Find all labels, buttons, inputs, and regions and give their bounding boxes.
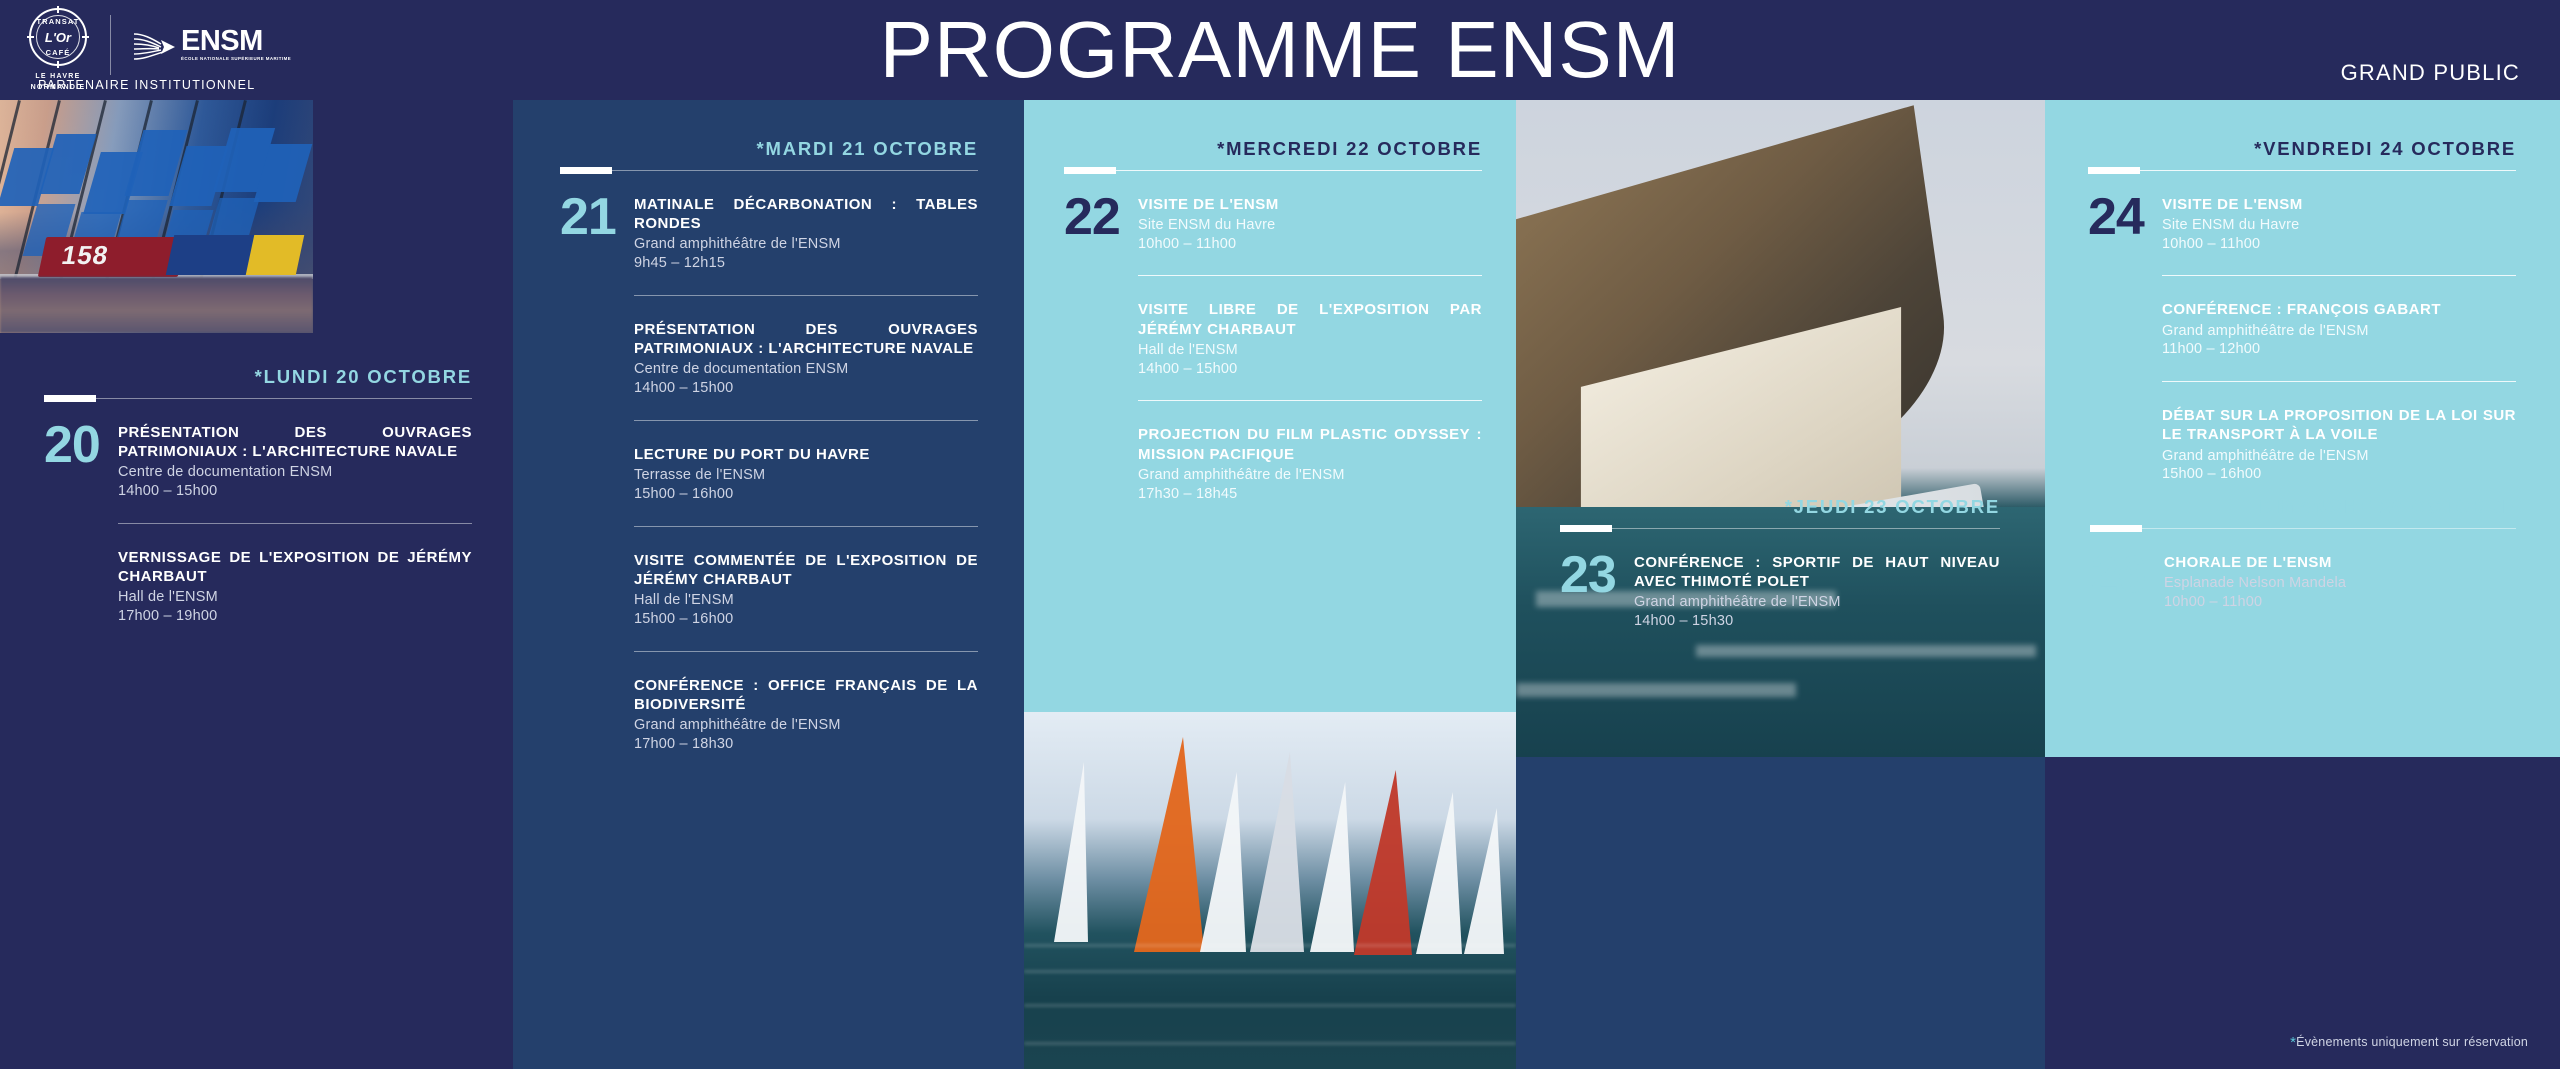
day-rule-lundi-20 <box>44 398 472 399</box>
event-place: Grand amphithéâtre de l'ENSM <box>1634 593 2000 612</box>
photo-imoca-under-sail <box>1516 100 2045 757</box>
event-place: Hall de l'ENSM <box>1138 341 1482 360</box>
event-item: LECTURE DU PORT DU HAVRE Terrasse de l'E… <box>634 445 978 504</box>
day-body-vendredi-24: 24 VISITE DE L'ENSM Site ENSM du Havre 1… <box>2088 195 2516 485</box>
event-time: 10h00 – 11h00 <box>2162 235 2516 254</box>
event-time: 15h00 – 16h00 <box>634 485 978 504</box>
day-block-dimanche-26: DIMANCHE 26 OCTOBRE 26 CHORALE DE L'ENSM… <box>2090 498 2516 611</box>
event-separator <box>1138 275 1482 276</box>
day-number-mercredi-22: 22 <box>1064 195 1138 504</box>
event-title: CONFÉRENCE : OFFICE FRANÇAIS DE LA BIODI… <box>634 676 978 714</box>
event-place: Esplanade Nelson Mandela <box>2164 574 2516 593</box>
event-time: 17h30 – 18h45 <box>1138 485 1482 504</box>
event-place: Centre de documentation ENSM <box>118 463 472 482</box>
event-item: PROJECTION DU FILM PLASTIC ODYSSEY : MIS… <box>1138 425 1482 503</box>
day-number-vendredi-24: 24 <box>2088 195 2162 485</box>
day-header-vendredi-24: *VENDREDI 24 OCTOBRE <box>2088 140 2516 171</box>
event-list-lundi-20: PRÉSENTATION DES OUVRAGES PATRIMONIAUX :… <box>118 423 472 626</box>
day-block-vendredi-24: *VENDREDI 24 OCTOBRE 24 VISITE DE L'ENSM… <box>2088 140 2516 484</box>
event-separator <box>1138 400 1482 401</box>
day-number-jeudi-23: 23 <box>1560 553 1634 631</box>
event-title: VISITE LIBRE DE L'EXPOSITION PAR JÉRÉMY … <box>1138 300 1482 338</box>
event-place: Grand amphithéâtre de l'ENSM <box>2162 322 2516 341</box>
day-rule-vendredi-24 <box>2088 170 2516 171</box>
day-block-jeudi-23: *JEUDI 23 OCTOBRE 23 CONFÉRENCE : SPORTI… <box>1560 498 2000 631</box>
event-item: DÉBAT SUR LA PROPOSITION DE LA LOI SUR L… <box>2162 406 2516 484</box>
event-title: DÉBAT SUR LA PROPOSITION DE LA LOI SUR L… <box>2162 406 2516 444</box>
day-title-lundi-20: *LUNDI 20 OCTOBRE <box>44 368 472 387</box>
day-rule-dimanche-26 <box>2090 528 2516 529</box>
page-title: PROGRAMME ENSM <box>0 0 2560 100</box>
day-number-lundi-20: 20 <box>44 423 118 626</box>
event-title: VISITE COMMENTÉE DE L'EXPOSITION DE JÉRÉ… <box>634 551 978 589</box>
event-separator <box>2162 275 2516 276</box>
event-separator <box>634 420 978 421</box>
event-title: CONFÉRENCE : SPORTIF DE HAUT NIVEAU AVEC… <box>1634 553 2000 591</box>
event-time: 15h00 – 16h00 <box>2162 465 2516 484</box>
event-item: CONFÉRENCE : OFFICE FRANÇAIS DE LA BIODI… <box>634 676 978 754</box>
event-title: VISITE DE L'ENSM <box>2162 195 2516 214</box>
day-body-lundi-20: 20 PRÉSENTATION DES OUVRAGES PATRIMONIAU… <box>44 423 472 626</box>
hull-number: 158 <box>59 240 111 271</box>
event-item: VISITE LIBRE DE L'EXPOSITION PAR JÉRÉMY … <box>1138 300 1482 378</box>
event-place: Grand amphithéâtre de l'ENSM <box>634 716 978 735</box>
event-item: CONFÉRENCE : FRANÇOIS GABART Grand amphi… <box>2162 300 2516 359</box>
event-place: Grand amphithéâtre de l'ENSM <box>1138 466 1482 485</box>
day-body-mardi-21: 21 MATINALE DÉCARBONATION : TABLES RONDE… <box>560 195 978 754</box>
event-list-dimanche-26: CHORALE DE L'ENSM Esplanade Nelson Mande… <box>2164 553 2516 612</box>
event-place: Site ENSM du Havre <box>2162 216 2516 235</box>
day-title-jeudi-23: *JEUDI 23 OCTOBRE <box>1560 498 2000 517</box>
day-block-mardi-21: *MARDI 21 OCTOBRE 21 MATINALE DÉCARBONAT… <box>560 140 978 754</box>
photo-race-boats-harbour: 158 <box>0 100 313 333</box>
event-separator <box>118 523 472 524</box>
day-header-jeudi-23: *JEUDI 23 OCTOBRE <box>1560 498 2000 529</box>
event-item: VISITE DE L'ENSM Site ENSM du Havre 10h0… <box>2162 195 2516 254</box>
event-item: VERNISSAGE DE L'EXPOSITION DE JÉRÉMY CHA… <box>118 548 472 626</box>
event-place: Centre de documentation ENSM <box>634 360 978 379</box>
event-item: CHORALE DE L'ENSM Esplanade Nelson Mande… <box>2164 553 2516 612</box>
panel-sunday <box>2045 757 2560 1069</box>
event-item: MATINALE DÉCARBONATION : TABLES RONDES G… <box>634 195 978 273</box>
event-place: Hall de l'ENSM <box>634 591 978 610</box>
day-title-dimanche-26: DIMANCHE 26 OCTOBRE <box>2090 498 2516 517</box>
event-title: PRÉSENTATION DES OUVRAGES PATRIMONIAUX :… <box>634 320 978 358</box>
event-time: 14h00 – 15h30 <box>1634 612 2000 631</box>
day-header-mardi-21: *MARDI 21 OCTOBRE <box>560 140 978 171</box>
event-item: VISITE DE L'ENSM Site ENSM du Havre 10h0… <box>1138 195 1482 254</box>
day-rule-mardi-21 <box>560 170 978 171</box>
event-time: 15h00 – 16h00 <box>634 610 978 629</box>
day-header-mercredi-22: *MERCREDI 22 OCTOBRE <box>1064 140 1482 171</box>
day-number-mardi-21: 21 <box>560 195 634 754</box>
event-time: 14h00 – 15h00 <box>118 482 472 501</box>
event-title: PROJECTION DU FILM PLASTIC ODYSSEY : MIS… <box>1138 425 1482 463</box>
programme-poster: 158 TRANSAT <box>0 0 2560 1069</box>
event-time: 9h45 – 12h15 <box>634 254 978 273</box>
event-place: Terrasse de l'ENSM <box>634 466 978 485</box>
day-body-jeudi-23: 23 CONFÉRENCE : SPORTIF DE HAUT NIVEAU A… <box>1560 553 2000 631</box>
day-body-mercredi-22: 22 VISITE DE L'ENSM Site ENSM du Havre 1… <box>1064 195 1482 504</box>
event-item: PRÉSENTATION DES OUVRAGES PATRIMONIAUX :… <box>634 320 978 398</box>
event-time: 11h00 – 12h00 <box>2162 340 2516 359</box>
event-item: CONFÉRENCE : SPORTIF DE HAUT NIVEAU AVEC… <box>1634 553 2000 631</box>
event-list-mardi-21: MATINALE DÉCARBONATION : TABLES RONDES G… <box>634 195 978 754</box>
event-place: Grand amphithéâtre de l'ENSM <box>2162 447 2516 466</box>
event-time: 14h00 – 15h00 <box>1138 360 1482 379</box>
day-block-lundi-20: *LUNDI 20 OCTOBRE 20 PRÉSENTATION DES OU… <box>44 368 472 626</box>
event-title: CONFÉRENCE : FRANÇOIS GABART <box>2162 300 2516 319</box>
photo-racing-fleet <box>1024 712 1516 1069</box>
event-time: 10h00 – 11h00 <box>2164 593 2516 612</box>
event-place: Site ENSM du Havre <box>1138 216 1482 235</box>
event-title: PRÉSENTATION DES OUVRAGES PATRIMONIAUX :… <box>118 423 472 461</box>
event-title: CHORALE DE L'ENSM <box>2164 553 2516 572</box>
day-block-mercredi-22: *MERCREDI 22 OCTOBRE 22 VISITE DE L'ENSM… <box>1064 140 1482 504</box>
event-place: Hall de l'ENSM <box>118 588 472 607</box>
day-title-mardi-21: *MARDI 21 OCTOBRE <box>560 140 978 159</box>
event-title: LECTURE DU PORT DU HAVRE <box>634 445 978 464</box>
day-title-mercredi-22: *MERCREDI 22 OCTOBRE <box>1064 140 1482 159</box>
day-rule-jeudi-23 <box>1560 528 2000 529</box>
event-separator <box>634 526 978 527</box>
day-header-lundi-20: *LUNDI 20 OCTOBRE <box>44 368 472 399</box>
event-list-mercredi-22: VISITE DE L'ENSM Site ENSM du Havre 10h0… <box>1138 195 1482 504</box>
event-title: MATINALE DÉCARBONATION : TABLES RONDES <box>634 195 978 233</box>
poster-header: TRANSAT L'Or CAFÉ LE HAVRE NORMANDIE <box>0 0 2560 100</box>
event-title: VISITE DE L'ENSM <box>1138 195 1482 214</box>
event-title: VERNISSAGE DE L'EXPOSITION DE JÉRÉMY CHA… <box>118 548 472 586</box>
event-separator <box>634 651 978 652</box>
day-body-dimanche-26: 26 CHORALE DE L'ENSM Esplanade Nelson Ma… <box>2090 553 2516 612</box>
event-time: 14h00 – 15h00 <box>634 379 978 398</box>
event-list-jeudi-23: CONFÉRENCE : SPORTIF DE HAUT NIVEAU AVEC… <box>1634 553 2000 631</box>
event-separator <box>2162 381 2516 382</box>
event-list-vendredi-24: VISITE DE L'ENSM Site ENSM du Havre 10h0… <box>2162 195 2516 485</box>
event-place: Grand amphithéâtre de l'ENSM <box>634 235 978 254</box>
audience-label: GRAND PUBLIC <box>2341 60 2520 86</box>
event-separator <box>634 295 978 296</box>
day-number-dimanche-26: 26 <box>2090 553 2164 612</box>
panel-thursday <box>1516 757 2045 1069</box>
day-header-dimanche-26: DIMANCHE 26 OCTOBRE <box>2090 498 2516 529</box>
event-item: PRÉSENTATION DES OUVRAGES PATRIMONIAUX :… <box>118 423 472 501</box>
day-title-vendredi-24: *VENDREDI 24 OCTOBRE <box>2088 140 2516 159</box>
day-rule-mercredi-22 <box>1064 170 1482 171</box>
event-time: 17h00 – 19h00 <box>118 607 472 626</box>
reservation-footnote: *Évènements uniquement sur réservation <box>2290 1034 2528 1051</box>
event-item: VISITE COMMENTÉE DE L'EXPOSITION DE JÉRÉ… <box>634 551 978 629</box>
event-time: 10h00 – 11h00 <box>1138 235 1482 254</box>
event-time: 17h00 – 18h30 <box>634 735 978 754</box>
footnote-text: Évènements uniquement sur réservation <box>2296 1035 2528 1049</box>
